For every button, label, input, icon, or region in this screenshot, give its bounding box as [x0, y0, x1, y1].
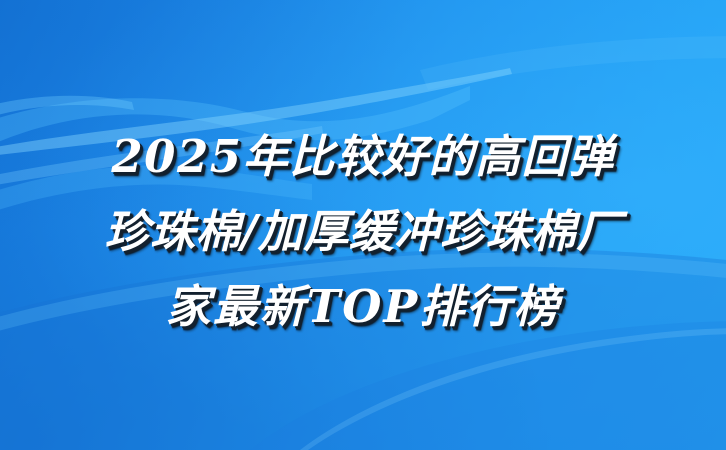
- upper-right-glow-band: [420, 36, 726, 90]
- headline-line-2: 珍珠棉/加厚缓冲珍珠棉厂: [0, 194, 726, 269]
- promo-banner: 2025年比较好的高回弹 珍珠棉/加厚缓冲珍珠棉厂 家最新TOP排行榜: [0, 0, 726, 450]
- headline: 2025年比较好的高回弹 珍珠棉/加厚缓冲珍珠棉厂 家最新TOP排行榜: [0, 119, 726, 344]
- headline-line-3: 家最新TOP排行榜: [0, 269, 726, 344]
- headline-line-1: 2025年比较好的高回弹: [0, 119, 726, 194]
